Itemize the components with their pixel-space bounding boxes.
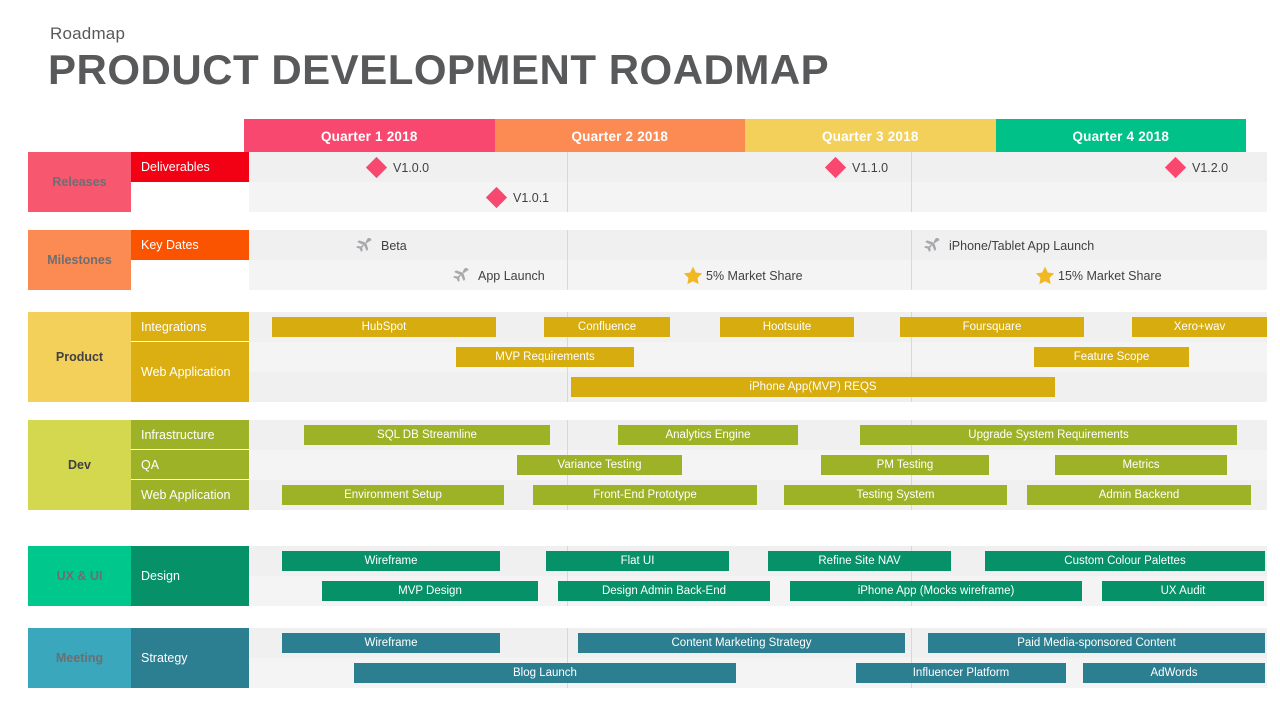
page-title: PRODUCT DEVELOPMENT ROADMAP <box>48 48 829 92</box>
task-bar-environment-setup[interactable]: Environment Setup <box>282 485 504 505</box>
task-bar-flat-ui[interactable]: Flat UI <box>546 551 729 571</box>
diamond-icon <box>366 157 387 178</box>
category-label-releases[interactable]: Releases <box>28 152 131 212</box>
milestone-label: 5% Market Share <box>706 269 803 283</box>
task-bar-iphone-app-mvp-reqs[interactable]: iPhone App(MVP) REQS <box>571 377 1055 397</box>
milestone-5-market-share[interactable]: 5% Market Share <box>683 266 803 285</box>
subcategory-integrations[interactable]: Integrations <box>131 312 249 342</box>
milestone-label: V1.0.0 <box>393 161 429 175</box>
task-bar-foursquare[interactable]: Foursquare <box>900 317 1084 337</box>
subcategory-deliverables[interactable]: Deliverables <box>131 152 249 182</box>
task-bar-metrics[interactable]: Metrics <box>1055 455 1227 475</box>
milestone-v1-0-1[interactable]: V1.0.1 <box>489 188 549 207</box>
task-bar-admin-backend[interactable]: Admin Backend <box>1027 485 1251 505</box>
milestone-label: V1.0.1 <box>513 191 549 205</box>
milestone-15-market-share[interactable]: 15% Market Share <box>1035 266 1162 285</box>
lane-band <box>249 182 1267 212</box>
task-bar-variance-testing[interactable]: Variance Testing <box>517 455 682 475</box>
category-label-ux-ui[interactable]: UX & UI <box>28 546 131 606</box>
diamond-icon <box>1165 157 1186 178</box>
task-bar-influencer-platform[interactable]: Influencer Platform <box>856 663 1066 683</box>
milestone-iphone-tablet-app-launch[interactable]: iPhone/Tablet App Launch <box>922 236 1094 255</box>
lane-product: HubSpotConfluenceHootsuiteFoursquareXero… <box>249 312 1267 402</box>
task-bar-pm-testing[interactable]: PM Testing <box>821 455 989 475</box>
category-label-meeting[interactable]: Meeting <box>28 628 131 688</box>
task-bar-hubspot[interactable]: HubSpot <box>272 317 496 337</box>
section-releases: ReleasesDeliverablesV1.0.0V1.0.1V1.1.0V1… <box>28 152 1246 212</box>
subcategory-column-product: IntegrationsWeb Application <box>131 312 249 402</box>
grid-line <box>567 152 568 212</box>
task-bar-iphone-app-mocks-wireframe[interactable]: iPhone App (Mocks wireframe) <box>790 581 1082 601</box>
lane-dev: SQL DB StreamlineAnalytics EngineUpgrade… <box>249 420 1267 510</box>
task-bar-wireframe[interactable]: Wireframe <box>282 551 500 571</box>
subcategory-design[interactable]: Design <box>131 546 249 606</box>
section-product: ProductIntegrationsWeb ApplicationHubSpo… <box>28 312 1246 402</box>
star-icon <box>683 266 703 285</box>
milestone-app-launch[interactable]: App Launch <box>451 266 545 285</box>
milestone-beta[interactable]: Beta <box>354 236 407 255</box>
quarter-header-4: Quarter 4 2018 <box>996 119 1247 153</box>
subcategory-column-dev: InfrastructureQAWeb Application <box>131 420 249 510</box>
task-bar-sql-db-streamline[interactable]: SQL DB Streamline <box>304 425 550 445</box>
task-bar-design-admin-back-end[interactable]: Design Admin Back-End <box>558 581 770 601</box>
airplane-icon <box>922 238 942 254</box>
milestone-label: iPhone/Tablet App Launch <box>949 239 1094 253</box>
task-bar-analytics-engine[interactable]: Analytics Engine <box>618 425 798 445</box>
quarter-header-1: Quarter 1 2018 <box>244 119 495 153</box>
task-bar-paid-media-sponsored-content[interactable]: Paid Media-sponsored Content <box>928 633 1265 653</box>
quarter-header-row: Quarter 1 2018Quarter 2 2018Quarter 3 20… <box>244 119 1246 153</box>
task-bar-hootsuite[interactable]: Hootsuite <box>720 317 854 337</box>
lane-meeting: WireframeContent Marketing StrategyPaid … <box>249 628 1267 688</box>
task-bar-mvp-requirements[interactable]: MVP Requirements <box>456 347 634 367</box>
task-bar-confluence[interactable]: Confluence <box>544 317 670 337</box>
subcategory-qa[interactable]: QA <box>131 450 249 480</box>
lane-ux-ui: WireframeFlat UIRefine Site NAVCustom Co… <box>249 546 1267 606</box>
task-bar-blog-launch[interactable]: Blog Launch <box>354 663 736 683</box>
grid-line <box>911 152 912 212</box>
task-bar-content-marketing-strategy[interactable]: Content Marketing Strategy <box>578 633 905 653</box>
section-milestones: MilestonesKey DatesBetaApp Launch5% Mark… <box>28 230 1246 290</box>
subcategory-column-ux-ui: Design <box>131 546 249 606</box>
quarter-header-2: Quarter 2 2018 <box>495 119 746 153</box>
page-kicker: Roadmap <box>50 24 125 44</box>
milestone-v1-0-0[interactable]: V1.0.0 <box>369 158 429 177</box>
task-bar-wireframe[interactable]: Wireframe <box>282 633 500 653</box>
subcategory-strategy[interactable]: Strategy <box>131 628 249 688</box>
diamond-icon <box>825 157 846 178</box>
task-bar-mvp-design[interactable]: MVP Design <box>322 581 538 601</box>
category-label-product[interactable]: Product <box>28 312 131 402</box>
subcategory-column-meeting: Strategy <box>131 628 249 688</box>
section-ux-ui: UX & UIDesignWireframeFlat UIRefine Site… <box>28 546 1246 606</box>
task-bar-feature-scope[interactable]: Feature Scope <box>1034 347 1189 367</box>
milestone-label: V1.1.0 <box>852 161 888 175</box>
airplane-icon <box>451 268 471 284</box>
section-meeting: MeetingStrategyWireframeContent Marketin… <box>28 628 1246 688</box>
task-bar-adwords[interactable]: AdWords <box>1083 663 1265 683</box>
task-bar-front-end-prototype[interactable]: Front-End Prototype <box>533 485 757 505</box>
task-bar-refine-site-nav[interactable]: Refine Site NAV <box>768 551 951 571</box>
milestone-label: V1.2.0 <box>1192 161 1228 175</box>
section-dev: DevInfrastructureQAWeb ApplicationSQL DB… <box>28 420 1246 510</box>
airplane-icon <box>354 238 374 254</box>
task-bar-ux-audit[interactable]: UX Audit <box>1102 581 1264 601</box>
milestone-v1-1-0[interactable]: V1.1.0 <box>828 158 888 177</box>
grid-line <box>911 230 912 290</box>
subcategory-infrastructure[interactable]: Infrastructure <box>131 420 249 450</box>
subcategory-column-releases: Deliverables <box>131 152 249 212</box>
subcategory-web-application[interactable]: Web Application <box>131 342 249 402</box>
task-bar-xero-wav[interactable]: Xero+wav <box>1132 317 1267 337</box>
milestone-label: Beta <box>381 239 407 253</box>
task-bar-upgrade-system-requirements[interactable]: Upgrade System Requirements <box>860 425 1237 445</box>
star-icon <box>1035 266 1055 285</box>
grid-line <box>567 230 568 290</box>
category-label-milestones[interactable]: Milestones <box>28 230 131 290</box>
subcategory-web-application[interactable]: Web Application <box>131 480 249 510</box>
milestone-v1-2-0[interactable]: V1.2.0 <box>1168 158 1228 177</box>
subcategory-column-milestones: Key Dates <box>131 230 249 290</box>
lane-releases: V1.0.0V1.0.1V1.1.0V1.2.0 <box>249 152 1267 212</box>
lane-milestones: BetaApp Launch5% Market ShareiPhone/Tabl… <box>249 230 1267 290</box>
subcategory-key-dates[interactable]: Key Dates <box>131 230 249 260</box>
diamond-icon <box>486 187 507 208</box>
quarter-header-3: Quarter 3 2018 <box>745 119 996 153</box>
category-label-dev[interactable]: Dev <box>28 420 131 510</box>
task-bar-custom-colour-palettes[interactable]: Custom Colour Palettes <box>985 551 1265 571</box>
milestone-label: 15% Market Share <box>1058 269 1162 283</box>
task-bar-testing-system[interactable]: Testing System <box>784 485 1007 505</box>
milestone-label: App Launch <box>478 269 545 283</box>
